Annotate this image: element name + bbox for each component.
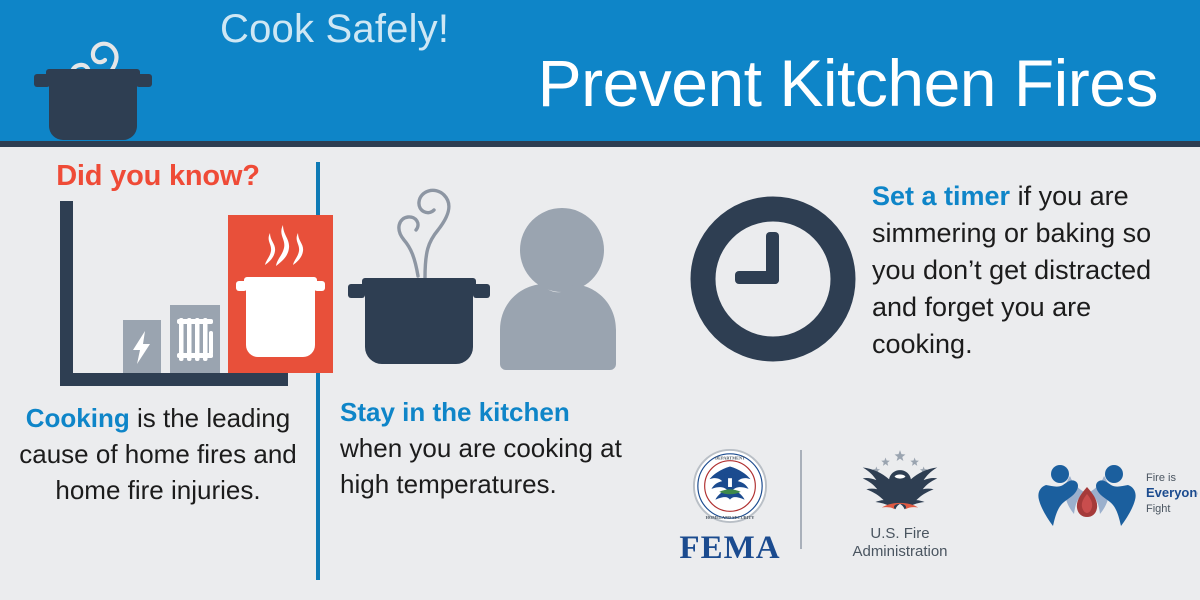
home-fire-causes-bar-chart	[60, 201, 300, 386]
radiator-heater-icon	[170, 305, 220, 373]
stay-in-kitchen-caption-bold: Stay in the kitchen	[340, 397, 570, 427]
fief-line2: Everyone's	[1146, 485, 1198, 500]
logo-strip: DEPARTMENT HOMELAND SECURITY FEMA	[650, 440, 1200, 560]
dhs-seal-icon: DEPARTMENT HOMELAND SECURITY	[692, 448, 768, 524]
stay-in-kitchen-caption: Stay in the kitchen when you are cooking…	[322, 394, 642, 502]
column-stay-in-kitchen: Stay in the kitchen when you are cooking…	[322, 160, 642, 580]
header-bottom-rule	[0, 141, 1200, 147]
fire-is-everyones-fight-logo[interactable]: Fire is Everyone's Fight	[1018, 456, 1198, 531]
fief-line3: Fight	[1146, 503, 1170, 515]
fema-wordmark: FEMA	[670, 530, 790, 567]
fief-line1: Fire is	[1146, 472, 1176, 484]
column-set-a-timer: Set a timer if you are simmering or baki…	[660, 178, 1200, 428]
steaming-pot-icon	[228, 215, 333, 373]
did-you-know-heading: Did you know?	[0, 150, 316, 193]
pot-icon	[348, 278, 490, 364]
infographic-poster: Cook Safely! Prevent Kitchen Fires Did y…	[0, 0, 1200, 600]
lightning-bolt-icon	[123, 320, 161, 373]
set-a-timer-caption-bold: Set a timer	[872, 181, 1010, 211]
fema-logo[interactable]: DEPARTMENT HOMELAND SECURITY FEMA	[670, 448, 790, 567]
pot-and-person-art	[322, 160, 642, 390]
page-title: Prevent Kitchen Fires	[190, 46, 1158, 120]
set-a-timer-caption: Set a timer if you are simmering or baki…	[872, 178, 1194, 363]
cooking-caption: Cooking is the leading cause of home fir…	[0, 400, 316, 508]
steam-swirl-icon	[399, 190, 449, 278]
steaming-pot-icon	[18, 8, 168, 141]
clock-icon	[688, 194, 858, 364]
cooking-caption-bold: Cooking	[26, 403, 130, 433]
bar-cooking	[228, 215, 333, 373]
header-banner: Cook Safely! Prevent Kitchen Fires	[0, 0, 1200, 141]
column-did-you-know: Did you know?	[0, 150, 316, 600]
usfa-logo[interactable]: U.S. Fire Administration	[830, 446, 970, 561]
bar-electrical	[123, 320, 161, 373]
person-icon	[500, 208, 616, 370]
usfa-eagle-icon	[850, 446, 950, 518]
usfa-wordmark-line1: U.S. Fire	[830, 525, 970, 543]
header-text-block: Cook Safely! Prevent Kitchen Fires	[190, 6, 1180, 141]
bar-heating	[170, 305, 220, 373]
usfa-wordmark-line2: Administration	[830, 543, 970, 561]
stay-in-kitchen-caption-rest: when you are cooking at high temperature…	[340, 433, 622, 499]
svg-text:DEPARTMENT: DEPARTMENT	[715, 456, 745, 461]
fire-is-everyones-fight-icon: Fire is Everyone's Fight	[1018, 456, 1198, 526]
chart-x-axis	[60, 373, 288, 386]
svg-text:HOMELAND SECURITY: HOMELAND SECURITY	[706, 515, 755, 520]
chart-y-axis	[60, 201, 73, 376]
